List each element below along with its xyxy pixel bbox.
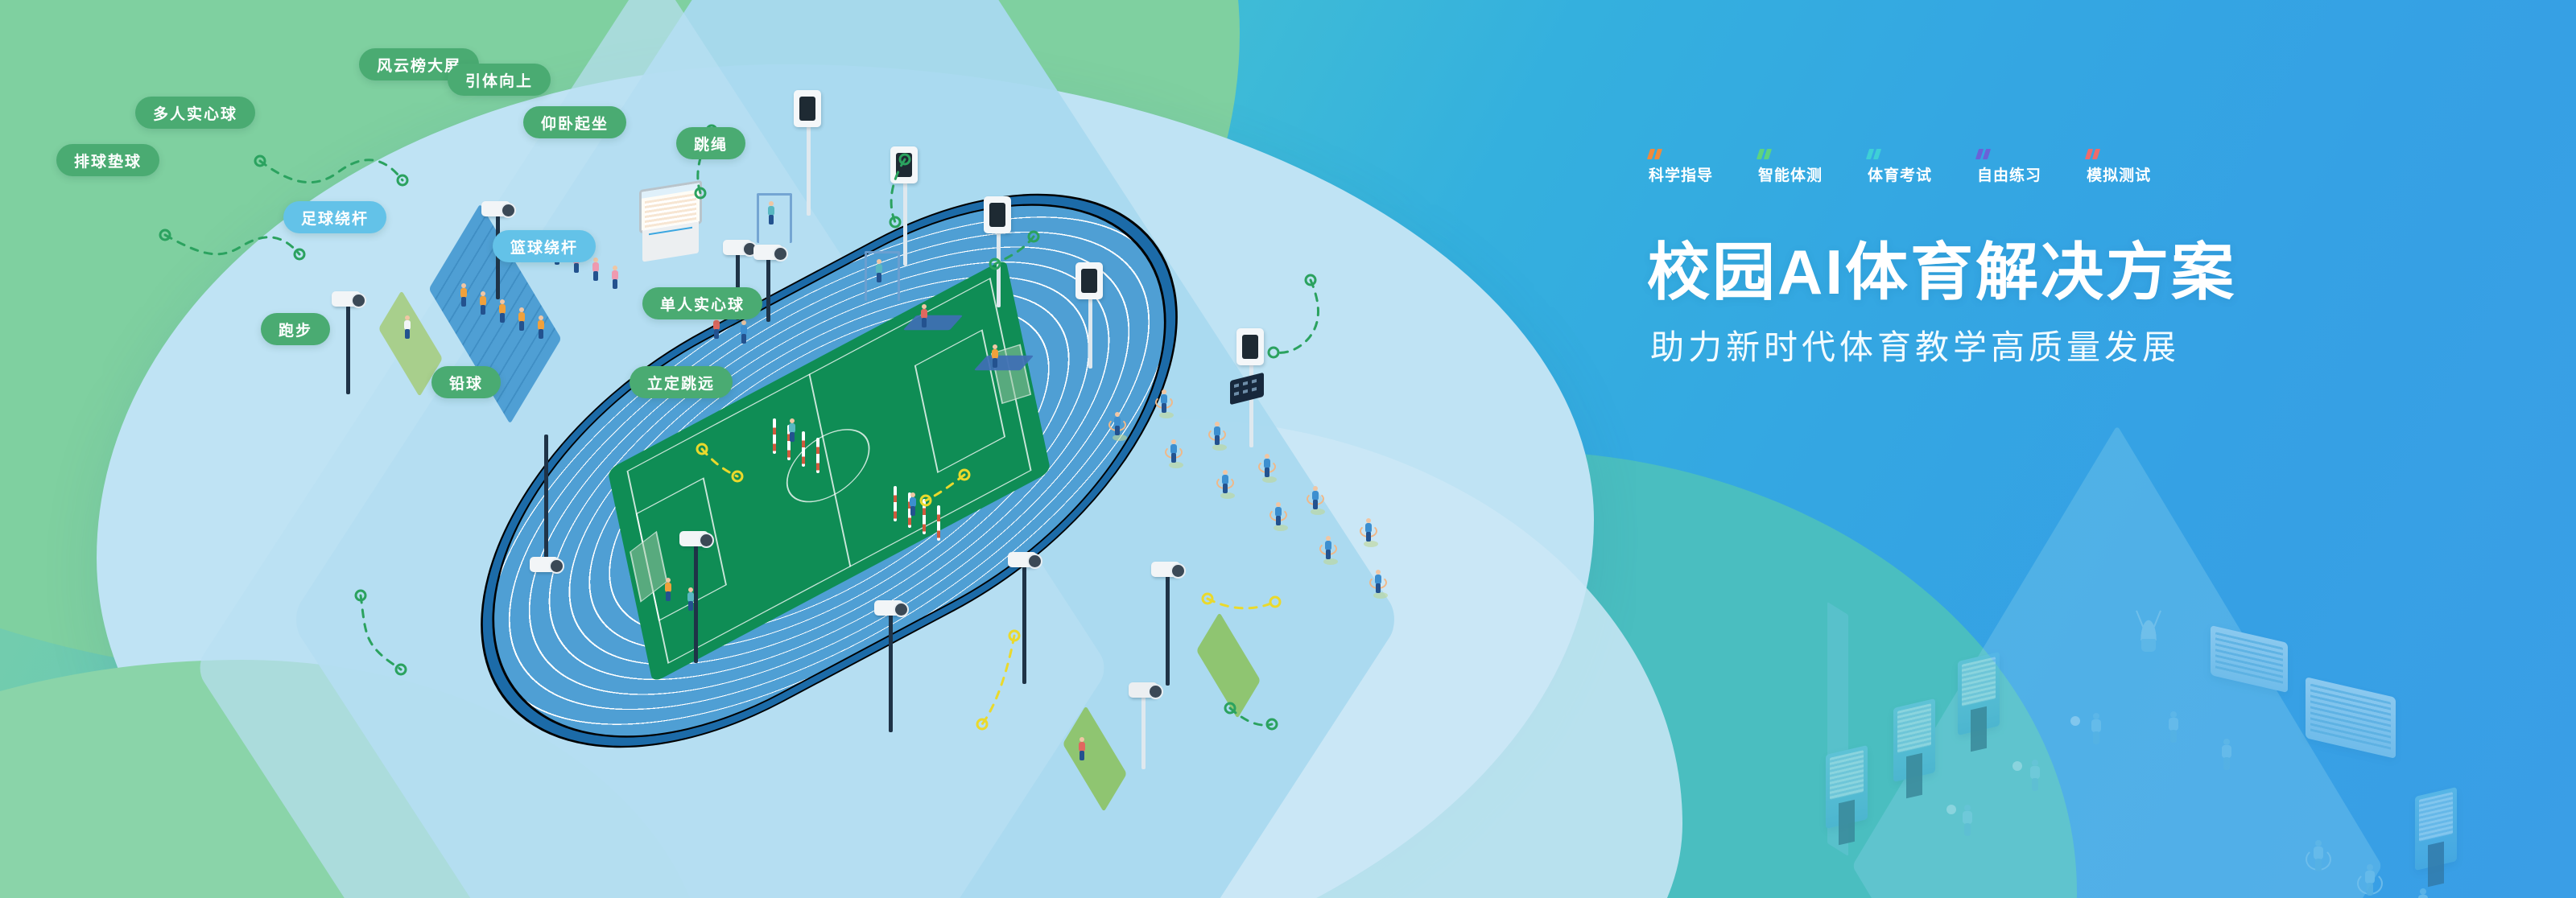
feature-tag-tiyukaoshi[interactable]: 体育考试 xyxy=(1868,149,1932,185)
pill-label: 立定跳远 xyxy=(647,372,715,393)
activity-pill-paiqiudianqiu[interactable]: 排球垫球 xyxy=(56,144,159,176)
shotput-thrower xyxy=(402,315,412,340)
jump-rope-athlete xyxy=(1212,422,1222,446)
jump-rope-athlete xyxy=(1113,412,1122,436)
pill-label: 跑步 xyxy=(279,319,312,340)
camera-pole xyxy=(889,612,893,732)
hero-copy: 科学指导 智能体测 体育考试 自由练习 模拟测试 校园AI体育解决方案 助力新时… xyxy=(1626,149,2431,369)
situp-athlete xyxy=(919,304,929,328)
kiosk-screen-icon xyxy=(1958,652,2000,735)
person-figure xyxy=(517,307,526,332)
feature-tag-label: 智能体测 xyxy=(1758,163,1823,185)
security-camera-icon xyxy=(874,600,903,616)
camera-pole xyxy=(766,256,770,322)
display-screen-icon xyxy=(890,146,918,183)
soccer-ball-icon xyxy=(2070,716,2080,726)
display-screen-icon xyxy=(984,196,1011,233)
activity-pill-yintixiangshang[interactable]: 引体向上 xyxy=(448,64,551,96)
feature-tag-label: 科学指导 xyxy=(1649,163,1713,185)
hero-banner: 多人实心球 排球垫球 风云榜大屏 引体向上 仰卧起坐 跳绳 足球绕杆 篮球绕杆 … xyxy=(0,0,2576,898)
activity-pill-lidingtiaoyuan[interactable]: 立定跳远 xyxy=(630,366,733,398)
jump-rope-athlete xyxy=(1323,536,1333,560)
leaderboard-screen-icon xyxy=(638,183,704,257)
display-screen-icon xyxy=(794,90,821,127)
ghost-athlete xyxy=(1961,805,1974,837)
double-slash-icon xyxy=(1758,149,1774,159)
person-figure xyxy=(478,291,488,315)
feature-tag-zhinengticeng[interactable]: 智能体测 xyxy=(1758,149,1823,185)
security-camera-icon xyxy=(530,557,559,572)
camera-pole xyxy=(1166,573,1170,686)
jump-rope-person-icon xyxy=(2312,840,2325,872)
basketball-slalom-player xyxy=(908,492,918,517)
pill-label: 篮球绕杆 xyxy=(510,236,578,257)
pill-label: 跳绳 xyxy=(694,133,728,154)
wall-dashboard-icon xyxy=(2306,677,2396,759)
jump-rope-athlete xyxy=(1364,518,1373,542)
page-title: 校园AI体育解决方案 xyxy=(1647,237,2431,307)
gym-floor xyxy=(1852,425,2382,898)
jump-rope-athlete xyxy=(1373,570,1383,594)
security-camera-icon xyxy=(481,201,510,216)
pill-label: 铅球 xyxy=(449,372,483,393)
ghost-athlete xyxy=(2167,711,2180,744)
pill-label: 排球垫球 xyxy=(74,150,142,171)
slalom-pole xyxy=(802,431,805,467)
jump-rope-athlete xyxy=(1274,502,1283,526)
person-figure xyxy=(591,257,601,282)
pull-up-athlete xyxy=(766,201,776,225)
activity-pill-duorenshixinqiu[interactable]: 多人实心球 xyxy=(135,97,255,129)
jump-rope-athlete xyxy=(1159,389,1169,414)
potted-plant-icon xyxy=(2135,607,2162,652)
slalom-pole xyxy=(894,486,897,521)
soccer-ball-icon xyxy=(2013,761,2022,771)
camera-pole xyxy=(1022,563,1026,684)
pill-label: 仰卧起坐 xyxy=(541,112,609,134)
feature-tag-label: 自由练习 xyxy=(1977,163,2041,185)
camera-pole xyxy=(694,534,698,663)
person-figure xyxy=(536,315,546,340)
ghost-athlete xyxy=(2029,760,2041,792)
sensor-pole xyxy=(1141,692,1146,769)
pull-up-athlete xyxy=(874,259,884,283)
security-camera-icon xyxy=(723,240,752,255)
kiosk-screen-icon xyxy=(2415,787,2457,871)
runner-figure xyxy=(739,320,749,344)
page-subtitle: 助力新时代体育教学高质量发展 xyxy=(1650,320,2431,369)
double-slash-icon xyxy=(1649,149,1665,159)
soccer-ball-icon xyxy=(1946,805,1956,814)
feature-tag-ziyoulianxi[interactable]: 自由练习 xyxy=(1977,149,2041,185)
display-screen-icon xyxy=(1236,328,1264,365)
security-camera-icon xyxy=(332,291,361,307)
jump-rope-athlete xyxy=(1220,470,1230,494)
jump-rope-athlete xyxy=(1262,454,1272,478)
slalom-pole xyxy=(773,418,776,454)
activity-pill-yangwoqizuo[interactable]: 仰卧起坐 xyxy=(523,106,626,138)
feature-tag-label: 模拟测试 xyxy=(2087,163,2151,185)
activity-pill-lanqiuraogan[interactable]: 篮球绕杆 xyxy=(493,230,596,262)
jump-rope-person-icon xyxy=(2363,864,2376,896)
slalom-pole xyxy=(937,505,940,541)
jump-rope-athlete xyxy=(1311,486,1320,510)
security-camera-icon xyxy=(1008,552,1037,567)
ghost-athlete xyxy=(2220,739,2233,771)
person-figure xyxy=(610,266,620,290)
security-camera-icon xyxy=(679,531,708,546)
camera-pole xyxy=(544,435,548,563)
pill-label: 单人实心球 xyxy=(660,293,745,315)
indoor-gym-illustration xyxy=(1771,560,2544,898)
sensor-head xyxy=(1129,682,1158,698)
slalom-pole xyxy=(816,438,819,473)
pill-label: 多人实心球 xyxy=(153,102,237,124)
display-pole xyxy=(807,113,811,216)
activity-pill-tiaosheng[interactable]: 跳绳 xyxy=(676,127,745,159)
slalom-pole xyxy=(923,499,926,534)
situp-athlete xyxy=(990,344,1000,369)
long-jump-athlete xyxy=(1077,737,1087,761)
display-screen-icon xyxy=(1075,262,1103,299)
person-figure xyxy=(497,299,507,323)
kiosk-screen-icon xyxy=(1893,698,1935,782)
soccer-slalom-player xyxy=(787,418,797,443)
activity-pill-paobu[interactable]: 跑步 xyxy=(261,313,330,345)
jump-rope-athlete xyxy=(1169,439,1179,463)
feature-tag-row: 科学指导 智能体测 体育考试 自由练习 模拟测试 xyxy=(1649,149,2431,185)
pill-label: 足球绕杆 xyxy=(301,207,369,229)
feature-tag-label: 体育考试 xyxy=(1868,163,1932,185)
double-slash-icon xyxy=(1868,149,1884,159)
security-camera-icon xyxy=(1151,562,1180,577)
camera-pole xyxy=(346,306,350,394)
display-pole xyxy=(903,169,907,266)
feature-tag-moniceshi[interactable]: 模拟测试 xyxy=(2087,149,2151,185)
double-slash-icon xyxy=(1977,149,1993,159)
double-slash-icon xyxy=(2087,149,2103,159)
person-figure xyxy=(459,283,469,307)
runner-figure xyxy=(663,578,673,602)
kiosk-screen-icon xyxy=(1826,745,1868,829)
security-camera-icon xyxy=(753,245,782,260)
ghost-athlete xyxy=(2090,713,2103,745)
jump-rope-person-icon xyxy=(2417,888,2429,898)
activity-pill-danrenshixinqiu[interactable]: 单人实心球 xyxy=(642,287,762,319)
activity-pill-zuqiuraogan[interactable]: 足球绕杆 xyxy=(283,201,386,233)
activity-pill-qianqiu[interactable]: 铅球 xyxy=(431,366,501,398)
pill-label: 引体向上 xyxy=(465,69,533,91)
feature-tag-kexuezhidao[interactable]: 科学指导 xyxy=(1649,149,1713,185)
